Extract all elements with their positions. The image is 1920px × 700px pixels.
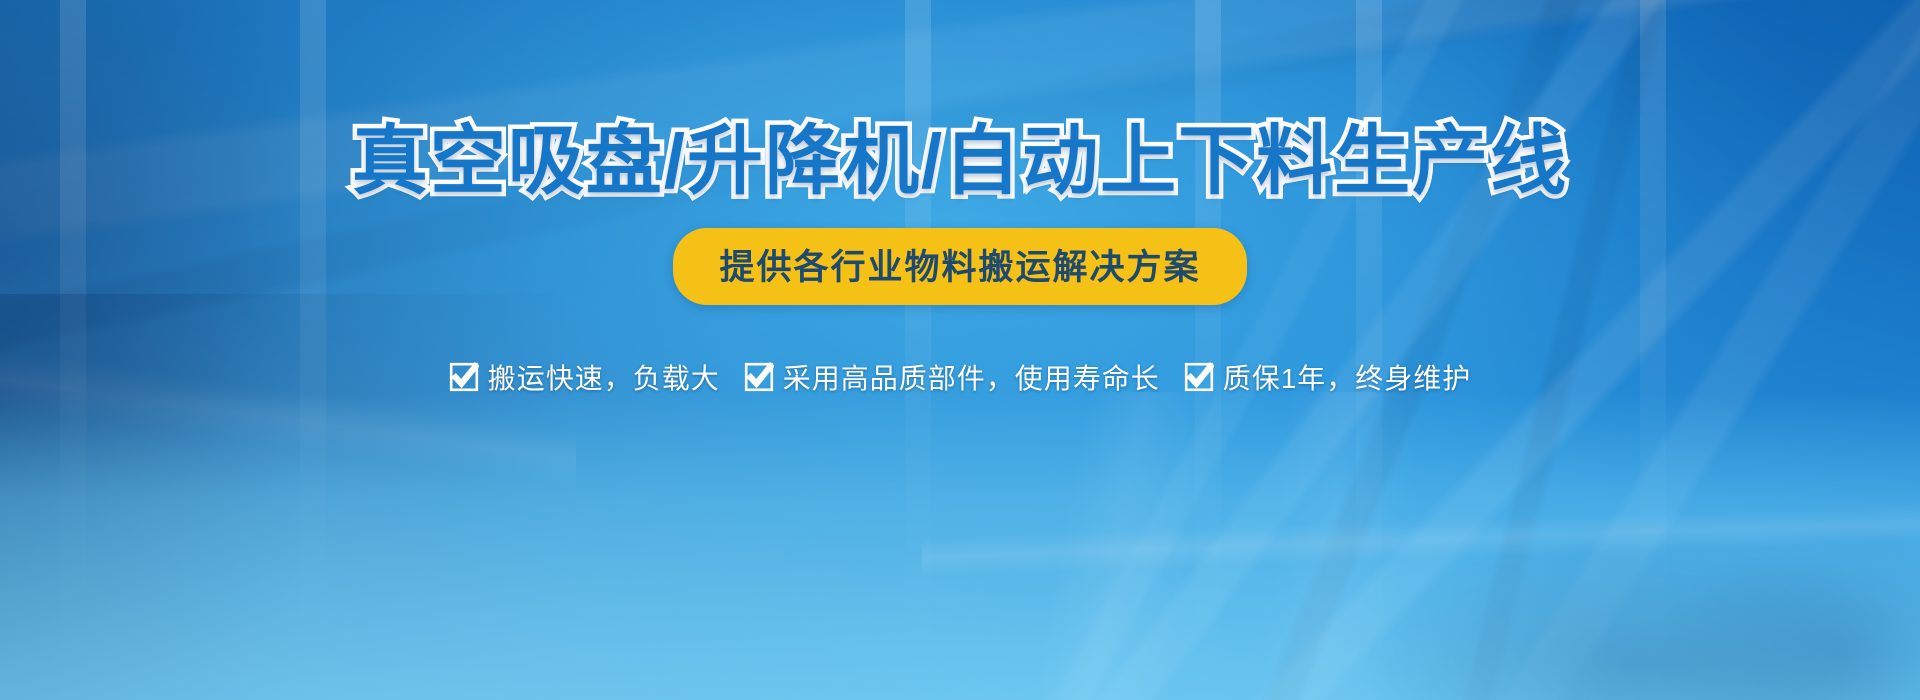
list-item-label: 质保1年，终身维护: [1223, 357, 1472, 397]
checkbox-checked-icon: [1184, 362, 1214, 392]
list-item: 采用高品质部件，使用寿命长: [744, 357, 1160, 397]
feature-list: 搬运快速，负载大 采用高品质部件，使用寿命长: [449, 357, 1472, 397]
list-item-label: 采用高品质部件，使用寿命长: [783, 357, 1160, 397]
checkbox-checked-icon: [449, 362, 479, 392]
subtitle-pill: 提供各行业物料搬运解决方案: [673, 228, 1246, 305]
banner-content: 真空吸盘/升降机/自动上下料生产线 提供各行业物料搬运解决方案 搬运快速，负载大: [0, 0, 1920, 700]
hero-banner: 真空吸盘/升降机/自动上下料生产线 提供各行业物料搬运解决方案 搬运快速，负载大: [0, 0, 1920, 700]
page-title: 真空吸盘/升降机/自动上下料生产线: [352, 122, 1568, 202]
list-item-label: 搬运快速，负载大: [488, 357, 720, 397]
list-item: 质保1年，终身维护: [1184, 357, 1472, 397]
checkbox-checked-icon: [744, 362, 774, 392]
list-item: 搬运快速，负载大: [449, 357, 720, 397]
